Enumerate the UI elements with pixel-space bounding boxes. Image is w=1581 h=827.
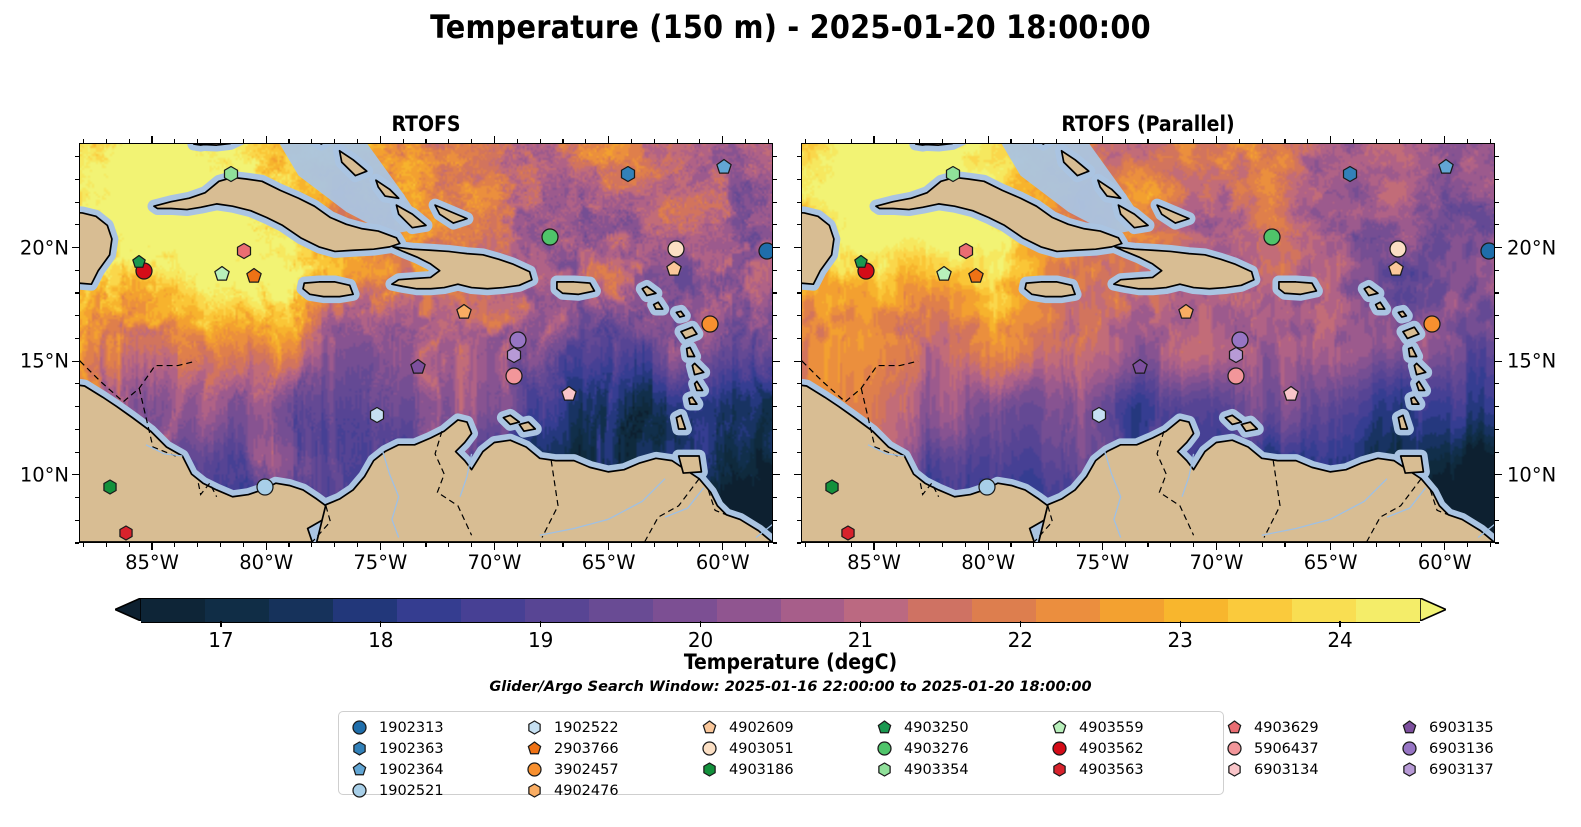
legend-column: 490325049032764903354 <box>873 717 1048 801</box>
axis-tick <box>75 315 79 316</box>
platform-marker-4903250[interactable] <box>853 254 870 271</box>
platform-marker-4903276[interactable] <box>540 227 560 247</box>
legend-item-2903766[interactable]: 2903766 <box>523 738 698 759</box>
map-overlay <box>802 144 1494 542</box>
legend-item-label: 1902363 <box>379 741 444 757</box>
legend-item-label: 4903559 <box>1079 720 1144 736</box>
axis-tick <box>1495 406 1499 407</box>
legend-marker-icon <box>1048 740 1070 757</box>
legend-item-label: 4903562 <box>1079 741 1144 757</box>
axis-tick <box>797 224 801 225</box>
legend-item-label: 6903135 <box>1429 720 1494 736</box>
axis-tick <box>805 543 806 547</box>
legend-marker-icon <box>1398 761 1420 778</box>
x-axis-label: 75°W <box>1075 551 1129 574</box>
legend-item-label: 4903051 <box>729 741 794 757</box>
axis-tick <box>197 139 198 143</box>
axis-tick <box>773 474 780 475</box>
axis-tick <box>288 543 289 547</box>
axis-tick <box>896 543 897 547</box>
legend-marker-icon <box>1223 761 1245 778</box>
y-axis-label-left: 10°N <box>0 463 69 486</box>
axis-tick <box>965 543 966 547</box>
colorbar-tick-label: 22 <box>1008 628 1033 652</box>
legend-item-label: 1902364 <box>379 762 444 778</box>
platform-marker-4903354[interactable] <box>221 164 240 183</box>
axis-tick <box>1495 497 1499 498</box>
y-axis-label-right: 20°N <box>1507 236 1581 259</box>
axis-tick <box>745 543 746 547</box>
axis-tick <box>1353 543 1354 547</box>
colorbar-band <box>844 599 908 622</box>
axis-tick <box>1467 543 1468 547</box>
legend-item-label: 4903563 <box>1079 762 1144 778</box>
axis-tick <box>1495 520 1499 521</box>
axis-tick <box>129 543 130 547</box>
legend-item-6903137[interactable]: 6903137 <box>1398 759 1573 780</box>
platform-marker-6903134[interactable] <box>1281 385 1300 404</box>
colorbar-tick-label: 18 <box>368 628 393 652</box>
x-axis-label: 65°W <box>1304 551 1358 574</box>
axis-tick <box>1170 543 1171 547</box>
legend-item-4902476[interactable]: 4902476 <box>523 780 698 801</box>
axis-tick <box>1307 139 1308 143</box>
platform-marker-3902457[interactable] <box>1422 314 1442 334</box>
legend-marker-icon <box>873 719 895 736</box>
legend-item-4903559[interactable]: 4903559 <box>1048 717 1223 738</box>
legend-marker-icon <box>1223 740 1245 757</box>
axis-tick <box>75 383 79 384</box>
axis-tick <box>1307 543 1308 547</box>
legend-item-4902609[interactable]: 4902609 <box>698 717 873 738</box>
axis-tick <box>1239 139 1240 143</box>
axis-tick <box>1193 139 1194 143</box>
legend-item-4903186[interactable]: 4903186 <box>698 759 873 780</box>
axis-tick <box>896 139 897 143</box>
axis-tick <box>288 139 289 143</box>
axis-tick <box>403 139 404 143</box>
axis-tick <box>654 139 655 143</box>
axis-tick <box>965 139 966 143</box>
axis-tick <box>1147 543 1148 547</box>
x-axis-label: 70°W <box>468 551 522 574</box>
colorbar: 1718192021222324 <box>115 598 1446 621</box>
axis-tick <box>266 136 267 143</box>
colorbar-band <box>1292 599 1356 622</box>
platform-marker-4902609[interactable] <box>664 260 683 279</box>
axis-tick <box>197 543 198 547</box>
panel-title-rtofs: RTOFS <box>79 112 773 136</box>
platform-marker-5906437[interactable] <box>504 366 524 386</box>
axis-tick <box>988 136 989 143</box>
legend-item-6903134[interactable]: 6903134 <box>1223 759 1398 780</box>
axis-tick <box>1193 543 1194 547</box>
axis-tick <box>334 543 335 547</box>
colorbar-band <box>397 599 461 622</box>
axis-tick <box>1079 543 1080 547</box>
platform-marker-4903276[interactable] <box>1262 227 1282 247</box>
x-axis-label: 85°W <box>125 551 179 574</box>
axis-tick <box>1495 224 1499 225</box>
platform-marker-4903629[interactable] <box>235 241 254 260</box>
platform-marker-6903135[interactable] <box>1130 357 1149 376</box>
axis-tick <box>1079 139 1080 143</box>
legend-marker-icon <box>348 761 370 778</box>
platform-marker-4903559[interactable] <box>934 264 953 283</box>
platform-marker-6903137[interactable] <box>504 346 523 365</box>
axis-tick <box>1495 315 1499 316</box>
axis-tick <box>797 179 801 180</box>
legend-marker-icon <box>523 719 545 736</box>
legend-marker-icon <box>348 740 370 757</box>
legend-marker-icon <box>1048 761 1070 778</box>
legend-item-1902313[interactable]: 1902313 <box>348 717 523 738</box>
axis-tick <box>1056 543 1057 547</box>
platform-marker-1902521[interactable] <box>255 477 275 497</box>
axis-tick <box>1330 543 1331 550</box>
axis-tick <box>1216 136 1217 143</box>
legend-marker-icon <box>348 719 370 736</box>
axis-tick <box>1495 247 1502 248</box>
platform-marker-1902363[interactable] <box>1340 164 1359 183</box>
legend-marker-icon <box>1398 719 1420 736</box>
axis-tick <box>266 543 267 550</box>
axis-tick <box>768 543 769 547</box>
platform-marker-1902313[interactable] <box>757 241 773 261</box>
axis-tick <box>425 139 426 143</box>
colorbar-tick-label: 24 <box>1327 628 1352 652</box>
axis-tick <box>1330 136 1331 143</box>
colorbar-extend-high-arrow <box>1420 598 1446 621</box>
legend-marker-icon <box>873 740 895 757</box>
axis-tick <box>773 292 777 293</box>
axis-tick <box>83 543 84 547</box>
axis-tick <box>699 543 700 547</box>
axis-tick <box>773 520 777 521</box>
legend-marker-icon <box>698 740 720 757</box>
map-overlay <box>80 144 772 542</box>
axis-tick <box>1102 136 1103 143</box>
legend-column: 490260949030514903186 <box>698 717 873 801</box>
colorbar-band <box>589 599 653 622</box>
axis-tick <box>797 429 801 430</box>
axis-tick <box>773 383 777 384</box>
legend-item-label: 4903250 <box>904 720 969 736</box>
axis-tick <box>75 292 79 293</box>
platform-marker-1902363[interactable] <box>618 164 637 183</box>
axis-tick <box>773 406 777 407</box>
y-axis-label-left: 15°N <box>0 350 69 373</box>
axis-tick <box>75 338 79 339</box>
axis-tick <box>517 543 518 547</box>
legend-item-6903136[interactable]: 6903136 <box>1398 738 1573 759</box>
legend-item-label: 5906437 <box>1254 741 1319 757</box>
axis-tick <box>654 543 655 547</box>
axis-tick <box>797 292 801 293</box>
axis-tick <box>794 474 801 475</box>
legend-item-1902522[interactable]: 1902522 <box>523 717 698 738</box>
axis-tick <box>75 542 79 543</box>
axis-tick <box>773 202 777 203</box>
landmass <box>80 144 772 542</box>
platform-marker-4902609[interactable] <box>1386 260 1405 279</box>
platform-marker-1902313[interactable] <box>1479 241 1495 261</box>
axis-tick <box>471 139 472 143</box>
platform-marker-4903563[interactable] <box>839 524 857 542</box>
legend-item-5906437[interactable]: 5906437 <box>1223 738 1398 759</box>
colorbar-tick-label: 23 <box>1167 628 1192 652</box>
x-axis-label: 70°W <box>1190 551 1244 574</box>
axis-tick <box>72 247 79 248</box>
legend-item-4903354[interactable]: 4903354 <box>873 759 1048 780</box>
colorbar-band <box>1228 599 1292 622</box>
axis-tick <box>471 543 472 547</box>
legend-item-4903276[interactable]: 4903276 <box>873 738 1048 759</box>
colorbar-tick-label: 21 <box>848 628 873 652</box>
colorbar-band <box>653 599 717 622</box>
axis-tick <box>1376 139 1377 143</box>
legend-item-3902457[interactable]: 3902457 <box>523 759 698 780</box>
platform-legend: 1902313190236319023641902521190252229037… <box>338 711 1224 795</box>
axis-tick <box>873 543 874 550</box>
legend-item-1902363[interactable]: 1902363 <box>348 738 523 759</box>
axis-tick <box>380 136 381 143</box>
axis-tick <box>828 543 829 547</box>
platform-marker-4903250[interactable] <box>131 254 148 271</box>
colorbar-label: Temperature (degC) <box>0 650 1581 674</box>
platform-marker-6903134[interactable] <box>559 385 578 404</box>
platform-marker-4902476[interactable] <box>1176 303 1195 322</box>
platform-marker-6903137[interactable] <box>1226 346 1245 365</box>
colorbar-tick-label: 19 <box>528 628 553 652</box>
legend-item-1902364[interactable]: 1902364 <box>348 759 523 780</box>
axis-tick <box>1353 139 1354 143</box>
axis-tick <box>797 452 801 453</box>
axis-tick <box>1495 474 1502 475</box>
axis-tick <box>794 247 801 248</box>
legend-marker-icon <box>523 740 545 757</box>
legend-marker-icon <box>1223 719 1245 736</box>
axis-tick <box>773 361 780 362</box>
legend-item-1902521[interactable]: 1902521 <box>348 780 523 801</box>
axis-tick <box>585 139 586 143</box>
panel-title-rtofs-parallel: RTOFS (Parallel) <box>801 112 1495 136</box>
axis-tick <box>942 543 943 547</box>
x-axis-label: 75°W <box>353 551 407 574</box>
platform-marker-4902476[interactable] <box>454 303 473 322</box>
colorbar-extend-low-arrow <box>115 598 141 621</box>
legend-item-label: 6903134 <box>1254 762 1319 778</box>
axis-tick <box>1495 292 1499 293</box>
axis-tick <box>797 338 801 339</box>
axis-tick <box>494 136 495 143</box>
axis-tick <box>1010 543 1011 547</box>
axis-tick <box>1284 139 1285 143</box>
axis-tick <box>1490 139 1491 143</box>
x-axis-label: 60°W <box>1418 551 1472 574</box>
axis-tick <box>1284 543 1285 547</box>
axis-tick <box>311 543 312 547</box>
platform-marker-4903354[interactable] <box>943 164 962 183</box>
axis-tick <box>380 543 381 550</box>
platform-marker-1902364[interactable] <box>714 157 733 176</box>
platform-marker-1902522[interactable] <box>1089 405 1108 424</box>
axis-tick <box>794 361 801 362</box>
axis-tick <box>1495 338 1499 339</box>
map-panel-rtofs[interactable] <box>79 143 773 543</box>
platform-marker-1902364[interactable] <box>1436 157 1455 176</box>
axis-tick <box>1033 543 1034 547</box>
axis-tick <box>1125 543 1126 547</box>
platform-marker-1902521[interactable] <box>977 477 997 497</box>
axis-tick <box>517 139 518 143</box>
axis-tick <box>1399 543 1400 547</box>
colorbar-band <box>717 599 781 622</box>
axis-tick <box>75 156 79 157</box>
legend-item-4903629[interactable]: 4903629 <box>1223 717 1398 738</box>
axis-tick <box>75 497 79 498</box>
axis-tick <box>1495 361 1502 362</box>
legend-item-4903051[interactable]: 4903051 <box>698 738 873 759</box>
axis-tick <box>106 139 107 143</box>
axis-tick <box>540 139 541 143</box>
colorbar-tick <box>540 621 541 627</box>
platform-marker-4903051[interactable] <box>1388 239 1408 259</box>
axis-tick <box>797 520 801 521</box>
axis-tick <box>988 543 989 550</box>
axis-tick <box>608 543 609 550</box>
legend-marker-icon <box>698 719 720 736</box>
map-panel-rtofs-parallel[interactable] <box>801 143 1495 543</box>
axis-tick <box>1495 270 1499 271</box>
legend-item-label: 6903136 <box>1429 741 1494 757</box>
axis-tick <box>448 543 449 547</box>
legend-column: 690313569031366903137 <box>1398 717 1573 801</box>
colorbar-tick <box>220 621 221 627</box>
platform-marker-4903563[interactable] <box>117 524 135 542</box>
axis-tick <box>562 543 563 547</box>
legend-item-label: 3902457 <box>554 762 619 778</box>
platform-marker-4903186[interactable] <box>101 478 119 496</box>
axis-tick <box>129 139 130 143</box>
axis-tick <box>585 543 586 547</box>
figure-canvas: Temperature (150 m) - 2025-01-20 18:00:0… <box>0 0 1581 827</box>
axis-tick <box>1102 543 1103 550</box>
axis-tick <box>1495 179 1499 180</box>
axis-tick <box>797 406 801 407</box>
axis-tick <box>106 543 107 547</box>
axis-tick <box>797 156 801 157</box>
platform-marker-3902457[interactable] <box>700 314 720 334</box>
axis-tick <box>151 543 152 550</box>
legend-item-label: 2903766 <box>554 741 619 757</box>
axis-tick <box>75 224 79 225</box>
axis-tick <box>1444 543 1445 550</box>
legend-item-label: 4903276 <box>904 741 969 757</box>
legend-item-4903563[interactable]: 4903563 <box>1048 759 1223 780</box>
x-axis-label: 65°W <box>582 551 636 574</box>
legend-marker-icon <box>1398 740 1420 757</box>
platform-marker-5906437[interactable] <box>1226 366 1246 386</box>
legend-marker-icon <box>523 761 545 778</box>
legend-item-4903562[interactable]: 4903562 <box>1048 738 1223 759</box>
platform-marker-2903766[interactable] <box>244 266 263 285</box>
legend-item-label: 4902476 <box>554 783 619 799</box>
platform-marker-2903766[interactable] <box>966 266 985 285</box>
platform-marker-6903135[interactable] <box>408 357 427 376</box>
axis-tick <box>357 139 358 143</box>
platform-marker-4903559[interactable] <box>212 264 231 283</box>
axis-tick <box>75 202 79 203</box>
legend-item-label: 4903629 <box>1254 720 1319 736</box>
axis-tick <box>1170 139 1171 143</box>
axis-tick <box>1239 543 1240 547</box>
platform-marker-4903051[interactable] <box>666 239 686 259</box>
axis-tick <box>334 139 335 143</box>
legend-marker-icon <box>1048 719 1070 736</box>
axis-tick <box>1376 543 1377 547</box>
axis-tick <box>919 543 920 547</box>
axis-tick <box>174 543 175 547</box>
axis-tick <box>797 497 801 498</box>
x-axis-label: 60°W <box>696 551 750 574</box>
colorbar-tick-label: 20 <box>688 628 713 652</box>
axis-tick <box>677 139 678 143</box>
search-window-subtitle: Glider/Argo Search Window: 2025-01-16 22… <box>0 679 1581 695</box>
axis-tick <box>151 136 152 143</box>
axis-tick <box>773 270 777 271</box>
axis-tick <box>1444 136 1445 143</box>
axis-tick <box>699 139 700 143</box>
legend-column: 1902522290376639024574902476 <box>523 717 698 801</box>
axis-tick <box>1033 139 1034 143</box>
colorbar-band <box>1100 599 1164 622</box>
axis-tick <box>540 543 541 547</box>
axis-tick <box>220 139 221 143</box>
platform-marker-4903629[interactable] <box>957 241 976 260</box>
legend-item-label: 4903186 <box>729 762 794 778</box>
legend-item-label: 4902609 <box>729 720 794 736</box>
axis-tick <box>1125 139 1126 143</box>
axis-tick <box>797 315 801 316</box>
axis-tick <box>773 179 777 180</box>
y-axis-label-left: 20°N <box>0 236 69 259</box>
axis-tick <box>805 139 806 143</box>
colorbar-band <box>908 599 972 622</box>
axis-tick <box>773 224 777 225</box>
axis-tick <box>608 136 609 143</box>
axis-tick <box>75 406 79 407</box>
axis-tick <box>75 429 79 430</box>
axis-tick <box>75 452 79 453</box>
axis-tick <box>1495 542 1499 543</box>
platform-marker-1902522[interactable] <box>367 405 386 424</box>
page-title: Temperature (150 m) - 2025-01-20 18:00:0… <box>0 8 1581 46</box>
colorbar-tick <box>700 621 701 627</box>
axis-tick <box>851 139 852 143</box>
axis-tick <box>1216 543 1217 550</box>
platform-marker-4903186[interactable] <box>823 478 841 496</box>
axis-tick <box>1495 452 1499 453</box>
legend-item-6903135[interactable]: 6903135 <box>1398 717 1573 738</box>
colorbar-tick <box>380 621 381 627</box>
axis-tick <box>773 452 777 453</box>
axis-tick <box>773 315 777 316</box>
legend-column: 1902313190236319023641902521 <box>348 717 523 801</box>
axis-tick <box>1467 139 1468 143</box>
legend-item-4903250[interactable]: 4903250 <box>873 717 1048 738</box>
axis-tick <box>773 542 777 543</box>
